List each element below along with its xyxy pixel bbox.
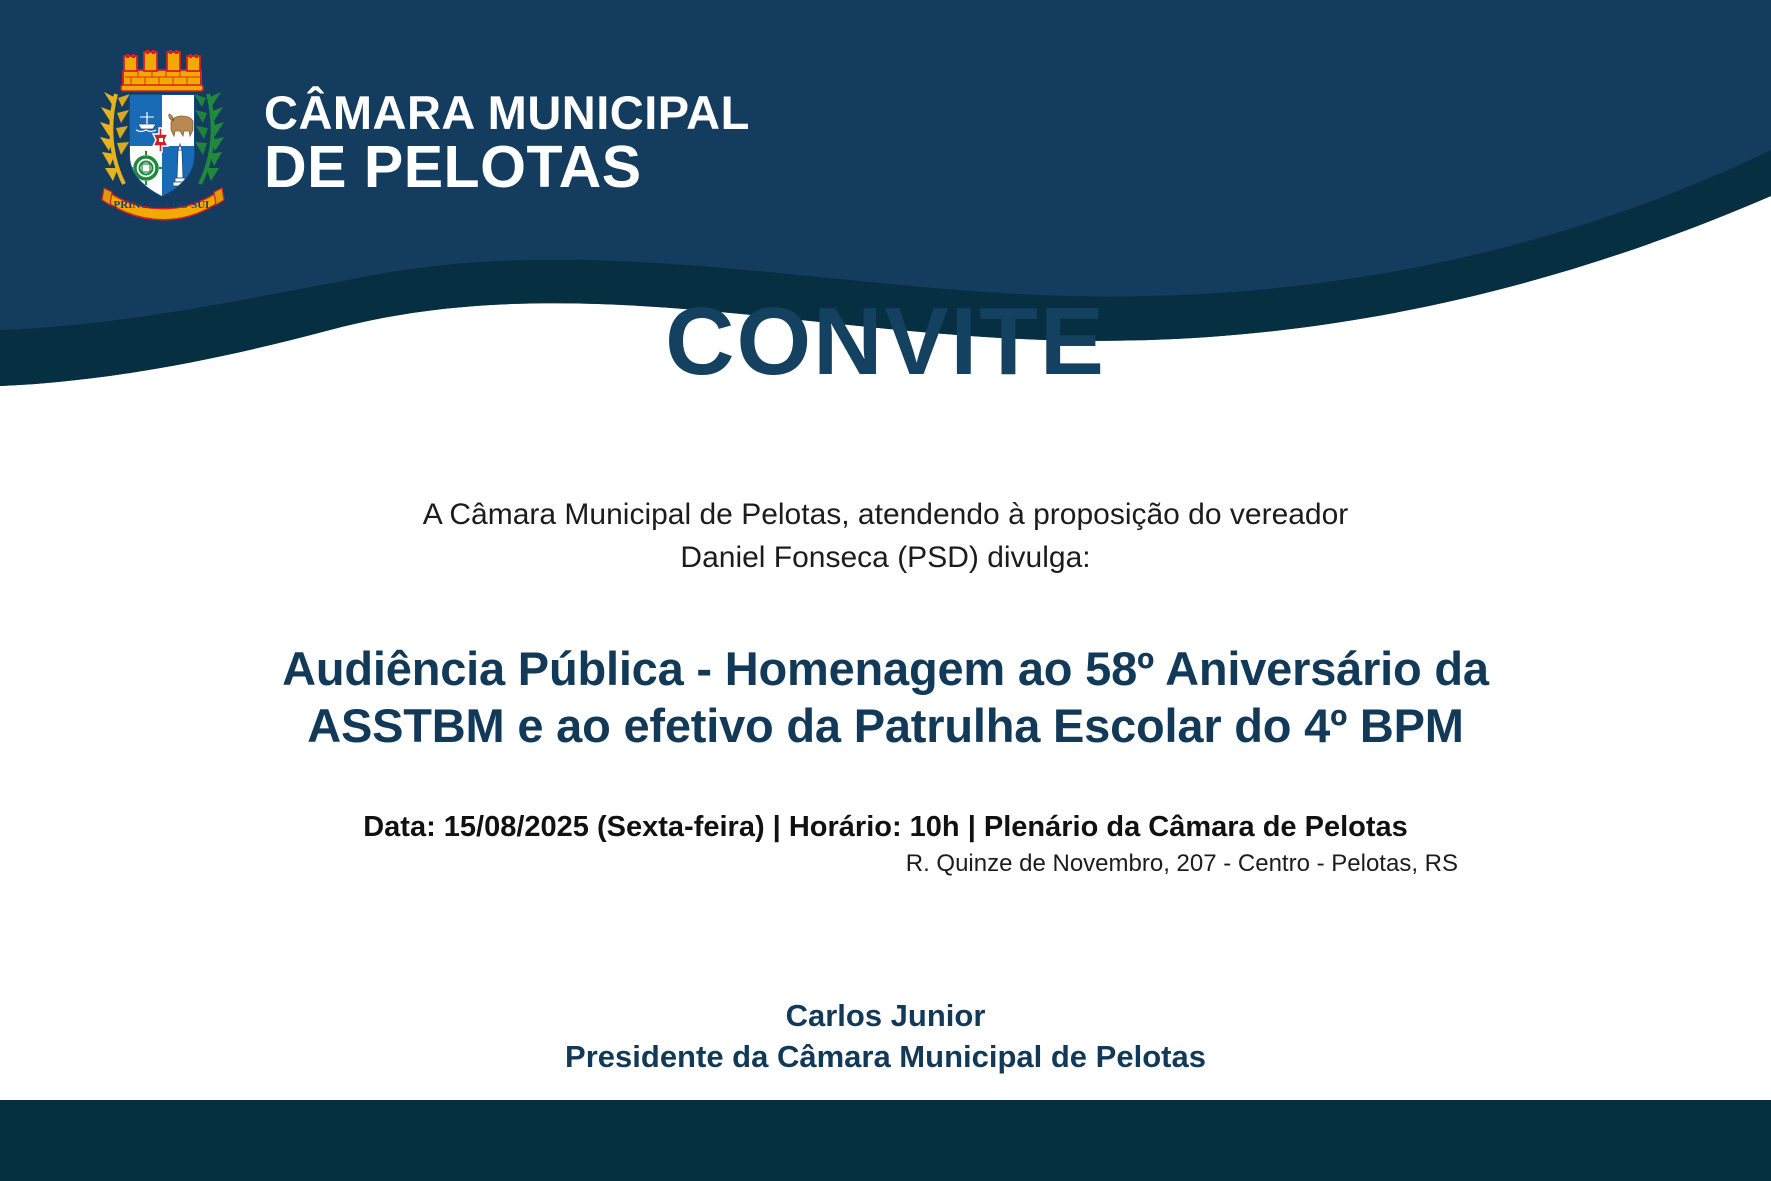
brand-lockup: PRINCESA DO SUL CÂMARA MUNICIPAL DE PELO… bbox=[88, 38, 750, 223]
intro-line-2: Daniel Fonseca (PSD) divulga: bbox=[0, 537, 1771, 580]
pelotas-coat-of-arms-icon: PRINCESA DO SUL bbox=[88, 38, 236, 223]
intro-paragraph: A Câmara Municipal de Pelotas, atendendo… bbox=[0, 494, 1771, 579]
crest-shield bbox=[128, 93, 196, 201]
crest-bull-icon bbox=[169, 114, 193, 136]
event-headline-line-1: Audiência Pública - Homenagem ao 58º Ani… bbox=[136, 640, 1636, 697]
event-headline-line-2: ASSTBM e ao efetivo da Patrulha Escolar … bbox=[136, 697, 1636, 754]
event-datetime-venue: Data: 15/08/2025 (Sexta-feira) | Horário… bbox=[0, 810, 1771, 845]
crest-motto-text: PRINCESA DO SUL bbox=[113, 199, 212, 211]
signature-block: Carlos Junior Presidente da Câmara Munic… bbox=[0, 996, 1771, 1078]
footer-bar bbox=[0, 1100, 1771, 1181]
signature-role: Presidente da Câmara Municipal de Pelota… bbox=[0, 1037, 1771, 1078]
invitation-poster: PRINCESA DO SUL CÂMARA MUNICIPAL DE PELO… bbox=[0, 0, 1771, 1181]
intro-line-1: A Câmara Municipal de Pelotas, atendendo… bbox=[0, 494, 1771, 537]
event-address: R. Quinze de Novembro, 207 - Centro - Pe… bbox=[906, 850, 1458, 878]
page-title: CONVITE bbox=[0, 294, 1771, 390]
brand-line-de-pelotas: DE PELOTAS bbox=[264, 139, 750, 197]
brand-wordmark: CÂMARA MUNICIPAL DE PELOTAS bbox=[264, 64, 750, 197]
event-headline: Audiência Pública - Homenagem ao 58º Ani… bbox=[136, 640, 1636, 755]
signature-name: Carlos Junior bbox=[0, 996, 1771, 1037]
crest-mural-crown bbox=[121, 50, 203, 91]
brand-line-camara-municipal: CÂMARA MUNICIPAL bbox=[264, 90, 750, 136]
